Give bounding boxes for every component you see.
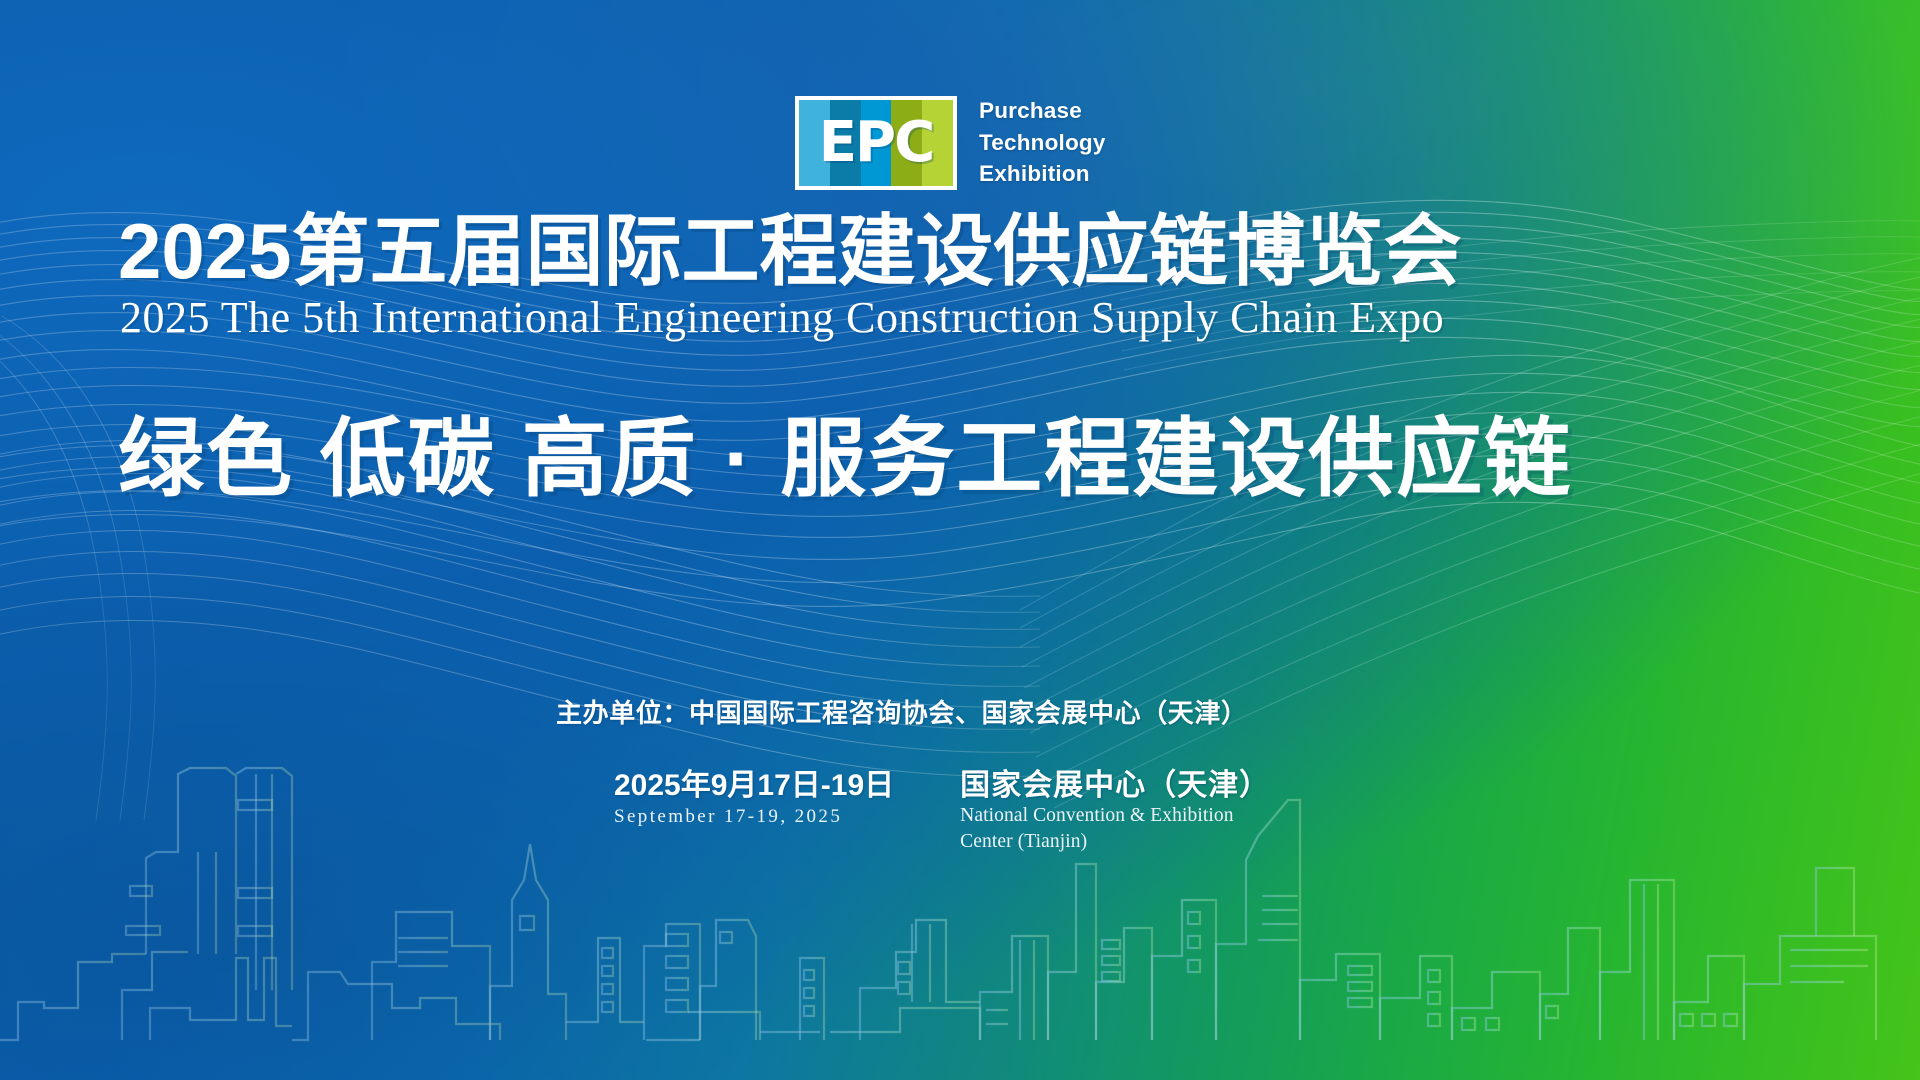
logo-tagline-line-3: Exhibition	[979, 160, 1106, 189]
logo-wordmark: EPC	[799, 100, 953, 186]
venue-english-line-2: Center (Tianjin)	[960, 831, 1087, 852]
event-slogan: 绿色 低碳 高质 · 服务工程建设供应链	[118, 416, 1838, 502]
expo-banner: EPC Purchase Technology Exhibition 2025第…	[0, 0, 1920, 1080]
event-date-chinese: 2025年9月17日-19日	[614, 768, 894, 803]
logo-tagline-line-2: Technology	[979, 129, 1106, 158]
organizer-line: 主办单位：中国国际工程咨询协会、国家会展中心（天津）	[556, 693, 1248, 730]
venue-english-line-1: National Convention & Exhibition	[960, 805, 1233, 826]
logo-tagline-line-1: Purchase	[979, 97, 1106, 126]
event-date-english: September 17-19, 2025	[614, 803, 894, 832]
event-date-block: 2025年9月17日-19日 September 17-19, 2025	[614, 768, 894, 832]
epc-logo-block: EPC Purchase Technology Exhibition	[795, 96, 1106, 190]
epc-logo-mark: EPC	[795, 96, 957, 190]
main-title-chinese: 2025第五届国际工程建设供应链博览会	[118, 212, 1818, 290]
event-info-row: 2025年9月17日-19日 September 17-19, 2025 国家会…	[614, 768, 1270, 855]
event-venue-chinese: 国家会展中心（天津）	[960, 768, 1270, 803]
main-title-english: 2025 The 5th International Engineering C…	[120, 296, 1820, 340]
logo-tagline: Purchase Technology Exhibition	[979, 97, 1106, 189]
event-venue-english: National Convention & Exhibition Center …	[960, 803, 1270, 854]
event-venue-block: 国家会展中心（天津） National Convention & Exhibit…	[960, 768, 1270, 855]
